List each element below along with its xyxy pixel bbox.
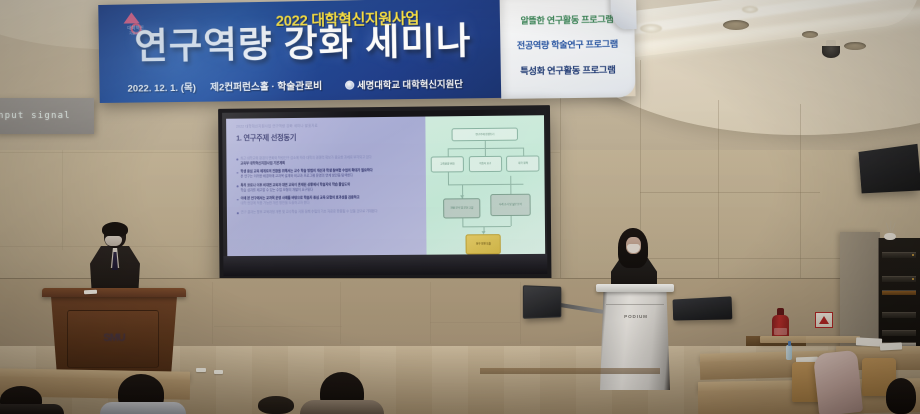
list-item: 연구 결과는 향후 교육과정 개편 및 교수학습 지원 정책 수립의 기초 자료…: [237, 209, 419, 215]
diagram-connector: [485, 148, 486, 156]
ceiling-recessed-vent: [844, 42, 866, 50]
handout-paper: [856, 337, 882, 346]
handout-paper: [214, 370, 223, 374]
logo-triangle-icon: [123, 12, 139, 23]
speaker-at-podium: [88, 224, 142, 294]
banner-place: 제2컨퍼런스홀 · 학술관로비: [210, 78, 322, 94]
fire-icon: [819, 316, 829, 324]
diagram-node-label: 사례 조사 및 설문 분석: [499, 203, 522, 206]
banner-main-title: 연구역량 강화 세미나: [109, 22, 499, 65]
wall-panel-joint: [640, 192, 820, 193]
diagram-node-gray-2: 사례 조사 및 설문 분석: [490, 194, 530, 216]
banner-footer: 2022. 12. 1. (목) 제2컨퍼런스홀 · 학술관로비 세명대학교 대…: [103, 75, 499, 95]
diagram-connector: [485, 141, 486, 148]
wooden-podium: SMU: [45, 288, 183, 380]
bullet-line: 대학 현장에 적용 가능한 개선 방안을 도출하고자 한다: [241, 200, 419, 206]
diagram-node-mid-3: 대학 정책: [506, 155, 539, 171]
silver-lectern: PODIUM: [600, 284, 670, 390]
audience-member-shoulders: [0, 404, 64, 414]
stage-panel-joint: [430, 282, 431, 344]
banner-date: 2022. 12. 1. (목): [127, 80, 196, 95]
organizer-seal-icon: [345, 80, 354, 89]
screen-lower-bezel: [223, 254, 547, 276]
ceiling-downlight: [742, 6, 758, 13]
draped-coat: [813, 350, 863, 414]
list-item: 특히 코로나 이후 비대면 교육과 대면 교육이 혼재된 상황에서 학습자의 학…: [237, 182, 419, 193]
diagram-node-label: 학습자 요구: [479, 162, 491, 165]
handout-paper: [880, 342, 902, 350]
presentation-slide: 2022 대학혁신지원사업 연구역량 강화 세미나 발표자료 1. 연구주제 선…: [226, 115, 545, 256]
projection-screen: 2022 대학혁신지원사업 연구역량 강화 세미나 발표자료 1. 연구주제 선…: [218, 105, 551, 288]
bullet-line: 교육부 대학혁신지원사업 기본계획: [240, 159, 418, 165]
program-item-3: 특성화 연구활동 프로그램: [502, 62, 634, 77]
face-mask-icon: [105, 236, 122, 246]
rack-unit: [882, 252, 916, 258]
slide-diagram-column: 연구주제 선정동기 교육환경 변화 학습자 요구: [426, 115, 546, 254]
bullet-line: 본 연구는 이러한 배경하에 교과목 설계와 비교과 프로그램 운영의 연계 방…: [240, 173, 418, 179]
stage-panel-joint: [214, 326, 342, 327]
podium-emblem: SMU: [93, 332, 135, 346]
stage-edge-trim: [480, 368, 660, 374]
lectern-monitor-left: [523, 285, 561, 319]
audience-member-head: [258, 396, 294, 414]
audience-member-shoulders: [300, 400, 384, 414]
diagram-node-label: 교육환경 변화: [440, 163, 454, 166]
banner-program-panel: 알뜰한 연구활동 프로그램 전공역량 학술연구 프로그램 특성화 연구활동 프로…: [500, 0, 636, 99]
lectern-monitor-right: [673, 296, 733, 320]
rack-unit: [882, 276, 916, 282]
stage-panel-joint: [212, 282, 213, 344]
rack-unit-amber: [882, 290, 916, 295]
ceiling-recessed-vent: [723, 20, 749, 30]
rack-led-icon: [912, 254, 914, 256]
diagram-node-label: 연구주제 선정동기: [475, 133, 494, 136]
presenter-at-lectern: [609, 228, 659, 290]
stage-panel-joint: [430, 322, 520, 323]
diagram-node-label: 연구 모형 도출: [476, 243, 491, 246]
screen-frame: 2022 대학혁신지원사업 연구역량 강화 세미나 발표자료 1. 연구주제 선…: [218, 105, 551, 288]
ceiling-recessed-vent: [802, 31, 818, 38]
banner-logo: 대학혁신 지원사업: [107, 10, 164, 41]
event-banner: 대학혁신 지원사업 2022 대학혁신지원사업 연구역량 강화 세미나 2022…: [98, 0, 635, 103]
list-item: 이에 본 연구에서는 교과목 운영 사례를 바탕으로 학습자 중심 교육 모형의…: [237, 195, 419, 206]
audience-member-head: [886, 378, 916, 414]
podium-paper: [84, 290, 97, 294]
speaker-hair: [102, 222, 128, 237]
diagram-node-mid-2: 학습자 요구: [468, 156, 501, 172]
list-item: 최근 대학교육 환경의 변화와 학령인구 감소에 따라 대학의 경쟁력 확보가 …: [236, 155, 418, 166]
rack-unit: [882, 330, 916, 336]
diagram-connector: [523, 148, 524, 156]
screen-surface: 2022 대학혁신지원사업 연구역량 강화 세미나 발표자료 1. 연구주제 선…: [222, 109, 547, 276]
diagram-connector: [447, 172, 448, 184]
water-bottle: [786, 345, 792, 360]
logo-label-bottom: 지원사업: [110, 31, 162, 37]
lectern-seam: [606, 304, 664, 305]
diagram-connector: [447, 148, 448, 156]
banner-organizer: 세명대학교 대학혁신지원단: [345, 76, 463, 91]
wall-speaker: [859, 144, 920, 194]
list-item: 학생 중심 교육 체계로의 전환을 위해서는 교수 학습 방법의 개선과 학생 …: [236, 168, 418, 179]
slide-bullet-list: 최근 대학교육 환경의 변화와 학령인구 감소에 따라 대학의 경쟁력 확보가 …: [236, 155, 418, 219]
secondary-display-no-signal: nput signal: [0, 98, 94, 134]
podium-top-surface: [42, 288, 186, 297]
diagram-node-top: 연구주제 선정동기: [452, 128, 518, 142]
audience-desk: [760, 336, 860, 343]
stage-panel-joint: [340, 282, 341, 344]
diagram-node-label: 현황 분석 및 문헌 고찰: [450, 207, 473, 210]
program-item-2: 전공역량 학술연구 프로그램: [501, 37, 633, 51]
slide-title: 1. 연구주제 선정동기: [236, 133, 296, 144]
wall-panel-joint: [800, 104, 801, 304]
slide-text-column: 2022 대학혁신지원사업 연구역량 강화 세미나 발표자료 1. 연구주제 선…: [226, 117, 427, 257]
ceiling-downlight: [640, 24, 662, 33]
slide-eyebrow: 2022 대학혁신지원사업 연구역량 강화 세미나 발표자료: [236, 123, 318, 129]
diagram-connector: [462, 226, 511, 227]
banner-blue-panel: 대학혁신 지원사업 2022 대학혁신지원사업 연구역량 강화 세미나 2022…: [98, 0, 509, 103]
bullet-line: 연구 결과는 향후 교육과정 개편 및 교수학습 지원 정책 수립의 기초 자료…: [241, 209, 419, 215]
university-logo-icon: 대학혁신 지원사업: [109, 12, 162, 39]
handout-paper: [196, 368, 206, 372]
diagram-node-label: 대학 정책: [518, 162, 528, 165]
logo-label-top: 대학혁신: [110, 25, 162, 32]
diffuser-reed: [891, 222, 896, 233]
organizer-name: 세명대학교 대학혁신지원단: [357, 76, 463, 91]
diffuser-bottle: [884, 233, 896, 240]
lectern-top-surface: [596, 284, 674, 292]
diagram-connector: [462, 218, 463, 226]
logo-ring-icon: [131, 23, 142, 34]
fire-equipment-sign: [815, 312, 833, 328]
lectern-brand-label: PODIUM: [614, 314, 658, 319]
wall-panel-joint: [62, 150, 63, 250]
rack-led-icon: [912, 278, 914, 280]
no-signal-message: nput signal: [0, 111, 71, 121]
reed-diffuser: [881, 224, 899, 240]
diagram-node-mid-1: 교육환경 변화: [431, 156, 464, 172]
bullet-line: 학습 성과를 제고할 수 있는 수업 모형의 개발이 요구된다: [241, 186, 419, 192]
rack-unit: [882, 312, 916, 318]
lectern-body: [600, 291, 670, 390]
diagram-connector: [447, 184, 523, 185]
dome-camera-icon: [822, 46, 840, 58]
extinguisher-label: [774, 328, 787, 335]
audience-member-shoulders: [100, 402, 186, 414]
lecture-hall-photo: 대학혁신 지원사업 2022 대학혁신지원사업 연구역량 강화 세미나 2022…: [0, 0, 920, 414]
diagram-node-gray-1: 현황 분석 및 문헌 고찰: [443, 198, 481, 218]
equipment-rack: [878, 238, 920, 356]
diagram-node-result: 연구 모형 도출: [466, 234, 502, 254]
stage-panel-joint: [520, 282, 521, 344]
diagram-connector: [510, 216, 511, 226]
diagram-connector: [510, 176, 511, 194]
